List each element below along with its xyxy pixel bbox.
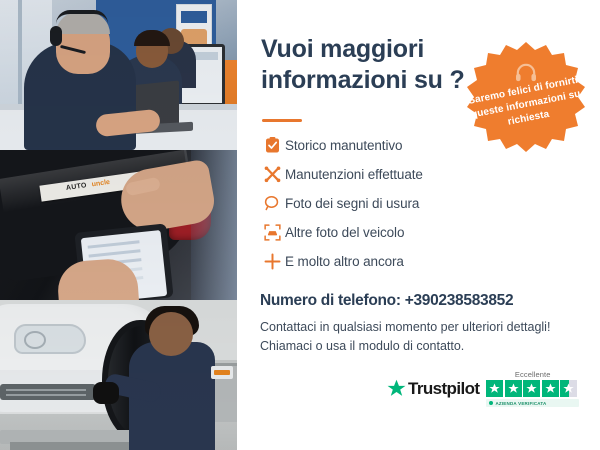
workshop-tyre-photo [0,300,237,450]
clipboard-check-icon [259,137,285,153]
list-item: Altre foto del veicolo [259,219,509,245]
trustpilot-stars [486,380,579,397]
contact-line-1: Contattaci in qualsiasi momento per ulte… [260,318,560,337]
info-panel: Vuoi maggiori informazioni su ? Saremo f… [237,0,600,450]
title-divider [262,119,302,122]
list-item: Manutenzioni effettuate [259,161,509,187]
car-scan-icon [259,224,285,241]
verified-check-icon [489,401,493,405]
call-center-photo [0,0,237,150]
promo-banner: AUTOuncle Vuoi maggiori informazioni su … [0,0,600,450]
list-item: Storico manutentivo [259,132,509,158]
plus-icon [259,253,285,270]
photo-column: AUTOuncle [0,0,237,450]
feature-list: Storico manutentivo Manutenzioni effettu… [259,132,509,277]
trustpilot-rating-label: Eccellente [486,370,579,379]
list-item: E molto altro ancora [259,248,509,274]
phone-number[interactable]: +390238583852 [405,292,514,309]
phone-label: Numero di telefono: [260,292,405,309]
list-item-label: Manutenzioni effettuate [285,167,423,182]
list-item-label: Foto dei segni di usura [285,196,419,211]
star-half [560,380,577,397]
contact-line-2: Chiamaci o usa il modulo di contatto. [260,337,560,356]
list-item-label: E molto altro ancora [285,254,404,269]
star-full [486,380,503,397]
trustpilot-logo: Trustpilot [387,379,479,399]
list-item: Foto dei segni di usura [259,190,509,216]
headset-icon [515,63,537,83]
list-item-label: Altre foto del veicolo [285,225,404,240]
wrench-cross-icon [259,166,285,183]
magnifier-icon [259,195,285,211]
trustpilot-widget[interactable]: Trustpilot Eccellente [387,370,592,407]
trustpilot-brand: Trustpilot [408,379,479,399]
star-full [505,380,522,397]
list-item-label: Storico manutentivo [285,138,402,153]
star-full [523,380,540,397]
trustpilot-star-icon [387,379,406,398]
star-full [542,380,559,397]
trustpilot-rating: Eccellente AZIENDA VERIFICATA [486,370,579,407]
contact-instructions: Contattaci in qualsiasi momento per ulte… [260,318,560,356]
page-title: Vuoi maggiori informazioni su ? [261,34,491,96]
verified-badge: AZIENDA VERIFICATA [486,399,579,407]
verified-badge-text: AZIENDA VERIFICATA [495,401,546,406]
vehicle-inspection-photo: AUTOuncle [0,150,237,300]
phone-line: Numero di telefono: +390238583852 [260,292,513,310]
